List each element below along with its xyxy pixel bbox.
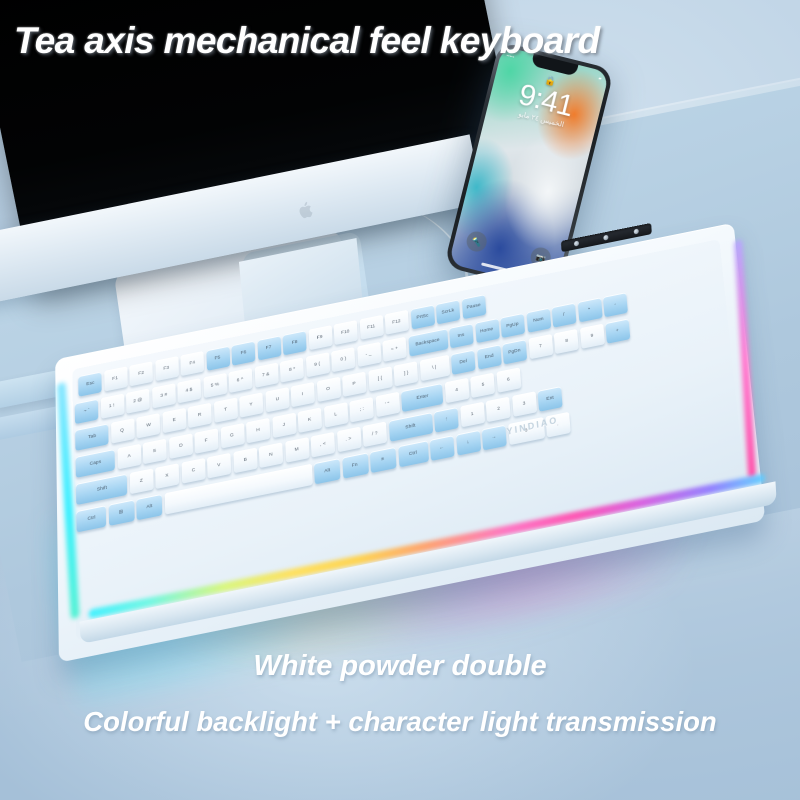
key-label: -: [614, 302, 616, 307]
key-label: 3 #: [160, 393, 167, 399]
key-space[interactable]: ≡: [370, 447, 397, 473]
key-label: X: [165, 473, 168, 479]
key-label: Tab: [88, 434, 96, 441]
key-space[interactable]: ; :: [349, 397, 374, 423]
key-label: C: [191, 468, 195, 474]
key-ctrl[interactable]: Ctrl: [76, 505, 106, 532]
key-4[interactable]: 4: [444, 378, 469, 404]
key-6[interactable]: 6 ^: [229, 368, 253, 393]
key-label: 3: [523, 401, 526, 407]
key-label: D: [179, 443, 183, 449]
key-label: Caps: [89, 460, 101, 468]
key-label: Del: [459, 359, 467, 366]
key-label: F: [205, 438, 208, 444]
key-2[interactable]: 2: [486, 397, 511, 423]
key-num[interactable]: Num: [526, 308, 551, 333]
key-home[interactable]: Home: [475, 318, 500, 343]
key-shift[interactable]: Shift: [76, 474, 127, 505]
key-8[interactable]: 8 *: [280, 357, 304, 382]
key-label: Esc: [86, 381, 94, 388]
key-label: Ent: [546, 396, 554, 403]
key-label: Fn: [352, 462, 358, 468]
key-label: Z: [140, 478, 143, 484]
key-1[interactable]: 1: [460, 402, 485, 428]
key-label: 9 (: [314, 362, 320, 368]
key-space[interactable]: \ |: [419, 355, 449, 382]
key-f10[interactable]: F10: [334, 320, 358, 345]
key-label: Y: [249, 402, 252, 408]
key-label: F3: [164, 366, 170, 372]
key-label: PrtSc: [416, 313, 428, 320]
key-w[interactable]: W: [136, 413, 160, 439]
key-label: F4: [189, 360, 195, 366]
key-label: 1: [471, 412, 474, 418]
key-space[interactable]: *: [577, 297, 602, 322]
key-label: Shift: [96, 486, 106, 493]
key-space[interactable]: ↓: [456, 430, 481, 456]
key-label: - _: [366, 351, 372, 357]
key-label: ; :: [359, 407, 364, 413]
key-label: ] }: [403, 371, 408, 377]
subtitle-line-2: Colorful backlight + character light tra…: [0, 706, 800, 738]
product-image-canvas: ••••• ▰ 🔒 9:41 الخميس ٢٤ مايو 🔦 📷 EscF1F: [0, 0, 800, 800]
key-label: Alt: [146, 504, 152, 510]
key-s[interactable]: S: [143, 439, 167, 465]
key-label: Shift: [405, 423, 415, 430]
key-space[interactable]: /: [552, 303, 577, 328]
key-c[interactable]: C: [181, 458, 205, 484]
key-j[interactable]: J: [272, 413, 296, 439]
key-label: 4 $: [186, 387, 193, 393]
key-label: V: [217, 463, 220, 469]
key-alt[interactable]: Alt: [136, 494, 162, 520]
key-3[interactable]: 3 #: [152, 383, 176, 408]
key-ent[interactable]: Ent: [537, 386, 562, 412]
key-enter[interactable]: Enter: [401, 383, 443, 412]
key-label: 0 ): [340, 357, 346, 363]
key-t[interactable]: T: [213, 397, 237, 422]
key-label: H: [256, 428, 260, 434]
key-f3[interactable]: F3: [155, 356, 179, 381]
key-label: F11: [367, 324, 375, 331]
key-label: *: [589, 307, 591, 312]
key-label: ' ": [385, 402, 390, 408]
key-label: 6: [507, 377, 510, 383]
key-label: 7: [539, 344, 542, 350]
key-label: Ctrl: [409, 451, 417, 458]
key-label: 2: [497, 407, 500, 413]
key-label: S: [153, 449, 156, 455]
key-label: M: [295, 447, 299, 453]
key-f9[interactable]: F9: [308, 325, 332, 350]
key-label: ←: [439, 445, 444, 451]
monitor-screen-glint: [92, 0, 393, 11]
key-o[interactable]: O: [316, 377, 340, 402]
key-label: Alt: [324, 468, 330, 474]
key-f5[interactable]: F5: [206, 346, 230, 371]
key-label: 8: [565, 339, 568, 345]
key-space[interactable]: , <: [311, 432, 336, 458]
key-label: = +: [391, 346, 398, 353]
key-e[interactable]: E: [162, 408, 186, 433]
key-q[interactable]: Q: [111, 418, 135, 444]
key-2[interactable]: 2 @: [126, 388, 150, 413]
key-space[interactable]: = +: [382, 337, 406, 362]
key-h[interactable]: H: [246, 418, 270, 444]
key-label: Backspace: [416, 338, 441, 348]
key-label: F7: [266, 345, 272, 351]
key-alt[interactable]: Alt: [314, 458, 341, 484]
key-label: , <: [320, 442, 326, 448]
key-space[interactable]: ←: [430, 435, 455, 461]
headline-title: Tea axis mechanical feel keyboard: [14, 20, 600, 62]
key-space[interactable]: . >: [337, 427, 362, 453]
key-r[interactable]: R: [188, 403, 212, 428]
key-space[interactable]: ' ": [375, 392, 400, 418]
key-label: . >: [346, 436, 352, 442]
key-pgup[interactable]: PgUp: [500, 313, 525, 338]
caps-lock-led: [604, 235, 609, 241]
key-u[interactable]: U: [265, 387, 289, 412]
key-label: Ctrl: [87, 515, 95, 522]
key-4[interactable]: 4 $: [177, 378, 201, 403]
key-d[interactable]: D: [169, 433, 193, 459]
key-f1[interactable]: F1: [104, 366, 128, 391]
key-label: N: [269, 452, 273, 458]
key-m[interactable]: M: [285, 437, 309, 463]
key-label: ≡: [382, 457, 385, 463]
key-caps[interactable]: Caps: [76, 449, 115, 478]
key-del[interactable]: Del: [451, 350, 476, 375]
key-space[interactable]: - _: [357, 342, 381, 367]
key-f8[interactable]: F8: [283, 330, 307, 355]
key-space[interactable]: / ?: [362, 421, 387, 447]
key-label: E: [172, 418, 175, 424]
key-space[interactable]: ⊞: [108, 500, 134, 526]
key-label: J: [283, 423, 286, 429]
num-lock-led: [574, 241, 579, 247]
key-space[interactable]: [ {: [368, 366, 393, 391]
key-label: Pause: [466, 303, 480, 311]
key-pause[interactable]: Pause: [461, 294, 486, 319]
key-fn[interactable]: Fn: [342, 452, 369, 478]
key-label: ⊞: [119, 510, 123, 516]
key-5[interactable]: 5 %: [203, 373, 227, 398]
key-tab[interactable]: Tab: [75, 423, 108, 451]
key-esc[interactable]: Esc: [78, 372, 102, 397]
key-label: / ?: [372, 431, 378, 437]
key-a[interactable]: A: [117, 444, 141, 470]
key-0[interactable]: 0 ): [331, 347, 355, 372]
key-space[interactable]: ] }: [394, 361, 419, 386]
key-label: F8: [292, 340, 298, 346]
key-backspace[interactable]: Backspace: [408, 328, 448, 356]
key-x[interactable]: X: [155, 463, 179, 489]
key-space[interactable]: ~ `: [75, 399, 99, 424]
key-label: 1 !: [109, 403, 115, 409]
key-label: 9: [590, 333, 593, 339]
key-f11[interactable]: F11: [359, 315, 383, 340]
key-label: A: [127, 454, 130, 460]
key-pgdn[interactable]: PgDn: [502, 339, 527, 364]
key-b[interactable]: B: [233, 448, 257, 474]
subtitle-line-1: White powder double: [0, 650, 800, 683]
key-ctrl[interactable]: Ctrl: [398, 440, 429, 467]
key-i[interactable]: I: [291, 382, 315, 407]
key-shift[interactable]: Shift: [388, 412, 432, 442]
key-f2[interactable]: F2: [129, 361, 153, 386]
key-v[interactable]: V: [207, 453, 231, 479]
key-f7[interactable]: F7: [257, 336, 281, 361]
key-label: ScrLk: [442, 308, 455, 316]
key-label: 8 *: [289, 367, 295, 373]
key-7[interactable]: 7: [528, 334, 553, 359]
key-label: Num: [533, 317, 544, 324]
key-label: F9: [317, 335, 323, 341]
key-label: End: [484, 354, 493, 361]
key-k[interactable]: K: [298, 407, 322, 433]
key-label: O: [326, 386, 330, 392]
key-label: R: [198, 412, 202, 418]
key-prtsc[interactable]: PrtSc: [410, 305, 434, 330]
key-p[interactable]: P: [342, 372, 366, 397]
key-scrlk[interactable]: ScrLk: [436, 299, 461, 324]
key-label: U: [275, 397, 279, 403]
key-n[interactable]: N: [259, 442, 283, 468]
key-space[interactable]: →: [482, 425, 507, 451]
key-space[interactable]: ↑: [434, 407, 459, 433]
key-label: 4: [455, 388, 458, 394]
key-label: F2: [138, 371, 144, 377]
key-label: P: [353, 381, 357, 387]
key-label: G: [230, 433, 234, 439]
key-z[interactable]: Z: [129, 468, 153, 494]
key-label: PgDn: [508, 348, 521, 356]
key-f12[interactable]: F12: [385, 310, 409, 335]
key-label: Ins: [458, 333, 465, 339]
key-1[interactable]: 1 !: [100, 394, 124, 419]
key-label: +: [616, 328, 619, 334]
key-label: 2 @: [133, 398, 142, 405]
key-label: Q: [120, 428, 124, 434]
key-g[interactable]: G: [220, 423, 244, 449]
key-8[interactable]: 8: [554, 329, 579, 354]
key-f4[interactable]: F4: [180, 351, 204, 376]
key-label: 5 %: [211, 382, 220, 389]
key-space[interactable]: +: [605, 318, 630, 343]
key-end[interactable]: End: [477, 344, 502, 369]
key-label: W: [146, 423, 151, 429]
key-label: T: [224, 407, 227, 413]
key-ins[interactable]: Ins: [449, 323, 474, 348]
key-label: I: [302, 392, 304, 397]
key-7[interactable]: 7 &: [254, 363, 278, 388]
key-label: [ {: [378, 376, 383, 382]
key-label: B: [243, 457, 247, 463]
key-label: 6 ^: [237, 377, 244, 383]
key-label: PgUp: [506, 322, 519, 330]
key-label: ↑: [445, 417, 448, 423]
key-label: ~ `: [83, 408, 89, 414]
key-label: 7 &: [262, 372, 270, 379]
key-6[interactable]: 6: [496, 367, 521, 392]
key-space[interactable]: -: [603, 292, 628, 317]
key-label: /: [563, 312, 565, 317]
key-label: F1: [113, 376, 119, 382]
key-label: K: [308, 417, 312, 423]
key-label: F12: [392, 319, 401, 326]
scroll-lock-led: [634, 228, 639, 234]
key-y[interactable]: Y: [239, 392, 263, 417]
key-label: ↓: [467, 440, 470, 446]
key-3[interactable]: 3: [512, 391, 537, 417]
key-label: F10: [341, 329, 350, 336]
key-label: F6: [240, 350, 246, 356]
key-label: 5: [481, 383, 484, 389]
key-label: L: [334, 412, 337, 418]
key-label: Home: [480, 327, 493, 335]
key-5[interactable]: 5: [470, 373, 495, 398]
key-label: Enter: [416, 394, 428, 402]
key-f6[interactable]: F6: [231, 341, 255, 366]
key-label: \ |: [432, 365, 437, 371]
key-label: F5: [215, 355, 221, 361]
key-label: →: [492, 434, 497, 440]
key-9[interactable]: 9: [579, 324, 604, 349]
key-f[interactable]: F: [194, 428, 218, 454]
key-l[interactable]: L: [323, 402, 347, 428]
key-9[interactable]: 9 (: [305, 352, 329, 377]
